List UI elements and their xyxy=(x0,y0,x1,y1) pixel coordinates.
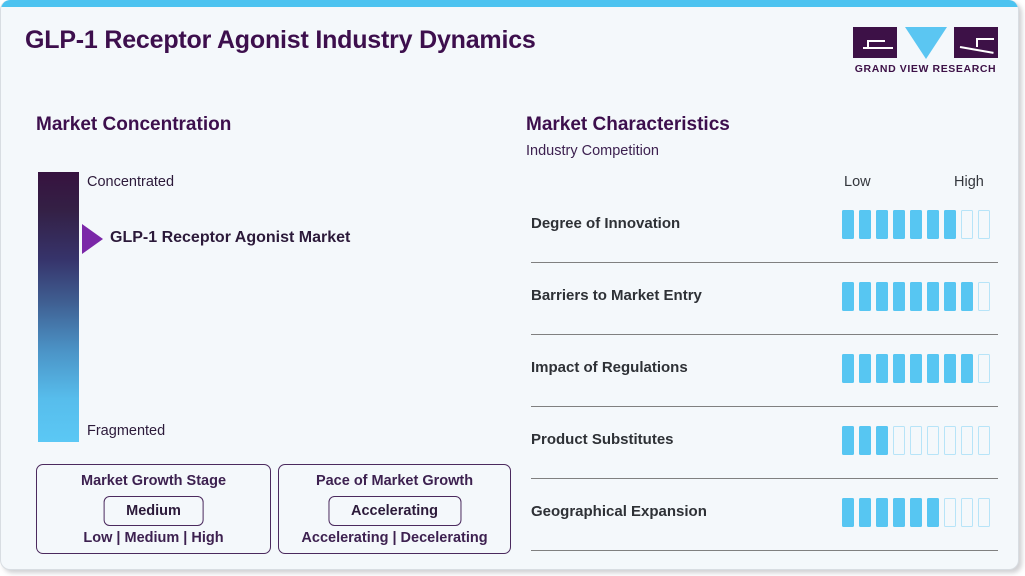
meter-segment xyxy=(876,354,888,383)
meter-segment xyxy=(944,498,956,527)
meter-segment xyxy=(944,210,956,239)
meter-segment xyxy=(893,282,905,311)
concentration-gradient-bar xyxy=(38,172,79,442)
characteristic-row: Impact of Regulations xyxy=(526,344,996,416)
meter-segment xyxy=(961,354,973,383)
concentration-top-label: Concentrated xyxy=(87,174,174,190)
meter-segment xyxy=(876,498,888,527)
meter-segment xyxy=(859,426,871,455)
meter-segment xyxy=(876,282,888,311)
meter-segment xyxy=(876,426,888,455)
meter-segment xyxy=(842,498,854,527)
meter-scale-high-label: High xyxy=(954,174,984,190)
page-title: GLP-1 Receptor Agonist Industry Dynamics xyxy=(25,26,536,55)
logo-r-mark-icon xyxy=(954,27,998,58)
characteristic-meter xyxy=(842,426,990,455)
market-growth-stage-scale: Low | Medium | High xyxy=(37,530,270,546)
logo-marks xyxy=(853,27,998,59)
pace-of-market-growth-title: Pace of Market Growth xyxy=(279,473,510,489)
meter-segment xyxy=(910,426,922,455)
brand-logo: GRAND VIEW RESEARCH xyxy=(853,27,998,75)
meter-segment xyxy=(876,210,888,239)
pace-of-market-growth-scale: Accelerating | Decelerating xyxy=(279,530,510,546)
meter-segment xyxy=(927,282,939,311)
characteristic-meter xyxy=(842,354,990,383)
meter-scale-low-label: Low xyxy=(844,174,871,190)
meter-segment xyxy=(910,498,922,527)
meter-segment xyxy=(927,354,939,383)
meter-segment xyxy=(978,354,990,383)
characteristic-meter xyxy=(842,210,990,239)
pace-of-market-growth-box: Pace of Market Growth Accelerating Accel… xyxy=(278,464,511,554)
meter-segment xyxy=(842,426,854,455)
market-characteristics-subheading: Industry Competition xyxy=(526,143,659,159)
characteristic-meter xyxy=(842,498,990,527)
characteristic-label: Product Substitutes xyxy=(531,431,674,448)
infographic-card: GLP-1 Receptor Agonist Industry Dynamics… xyxy=(0,0,1019,570)
meter-segment xyxy=(910,354,922,383)
market-growth-stage-title: Market Growth Stage xyxy=(37,473,270,489)
market-concentration-heading: Market Concentration xyxy=(36,114,231,136)
meter-segment xyxy=(927,210,939,239)
meter-segment xyxy=(910,282,922,311)
meter-segment xyxy=(927,498,939,527)
characteristic-row: Barriers to Market Entry xyxy=(526,272,996,344)
meter-segment xyxy=(961,498,973,527)
concentration-bottom-label: Fragmented xyxy=(87,423,165,439)
meter-segment xyxy=(842,282,854,311)
meter-segment xyxy=(859,210,871,239)
meter-segment xyxy=(893,498,905,527)
row-divider xyxy=(531,406,998,407)
meter-segment xyxy=(961,282,973,311)
meter-segment xyxy=(859,354,871,383)
meter-segment xyxy=(842,210,854,239)
meter-segment xyxy=(978,498,990,527)
characteristic-row: Geographical Expansion xyxy=(526,488,996,560)
characteristic-label: Barriers to Market Entry xyxy=(531,287,702,304)
meter-segment xyxy=(961,210,973,239)
characteristic-label: Degree of Innovation xyxy=(531,215,680,232)
meter-segment xyxy=(978,426,990,455)
top-accent-bar xyxy=(1,0,1019,7)
characteristic-meter xyxy=(842,282,990,311)
market-characteristics-heading: Market Characteristics xyxy=(526,114,730,136)
characteristic-row: Product Substitutes xyxy=(526,416,996,488)
meter-segment xyxy=(961,426,973,455)
market-growth-stage-box: Market Growth Stage Medium Low | Medium … xyxy=(36,464,271,554)
meter-segment xyxy=(842,354,854,383)
row-divider xyxy=(531,334,998,335)
logo-wordmark: GRAND VIEW RESEARCH xyxy=(853,63,998,75)
meter-segment xyxy=(944,426,956,455)
meter-segment xyxy=(859,498,871,527)
pace-of-market-growth-value: Accelerating xyxy=(351,503,438,519)
meter-segment xyxy=(859,282,871,311)
meter-segment xyxy=(893,210,905,239)
meter-segment xyxy=(893,426,905,455)
meter-segment xyxy=(978,210,990,239)
row-divider xyxy=(531,262,998,263)
meter-segment xyxy=(944,282,956,311)
meter-segment xyxy=(927,426,939,455)
market-growth-stage-value: Medium xyxy=(126,503,181,519)
row-divider xyxy=(531,478,998,479)
logo-v-triangle-icon xyxy=(905,27,947,59)
meter-segment xyxy=(978,282,990,311)
market-growth-stage-value-box: Medium xyxy=(103,496,204,526)
row-divider xyxy=(531,550,998,551)
logo-g-mark-icon xyxy=(853,27,897,58)
pace-of-market-growth-value-box: Accelerating xyxy=(328,496,461,526)
meter-segment xyxy=(910,210,922,239)
characteristic-row: Degree of Innovation xyxy=(526,200,996,272)
concentration-marker-label: GLP-1 Receptor Agonist Market xyxy=(110,229,350,247)
concentration-marker-triangle-icon xyxy=(82,224,103,254)
meter-segment xyxy=(893,354,905,383)
characteristic-label: Impact of Regulations xyxy=(531,359,688,376)
meter-segment xyxy=(944,354,956,383)
characteristic-label: Geographical Expansion xyxy=(531,503,707,520)
